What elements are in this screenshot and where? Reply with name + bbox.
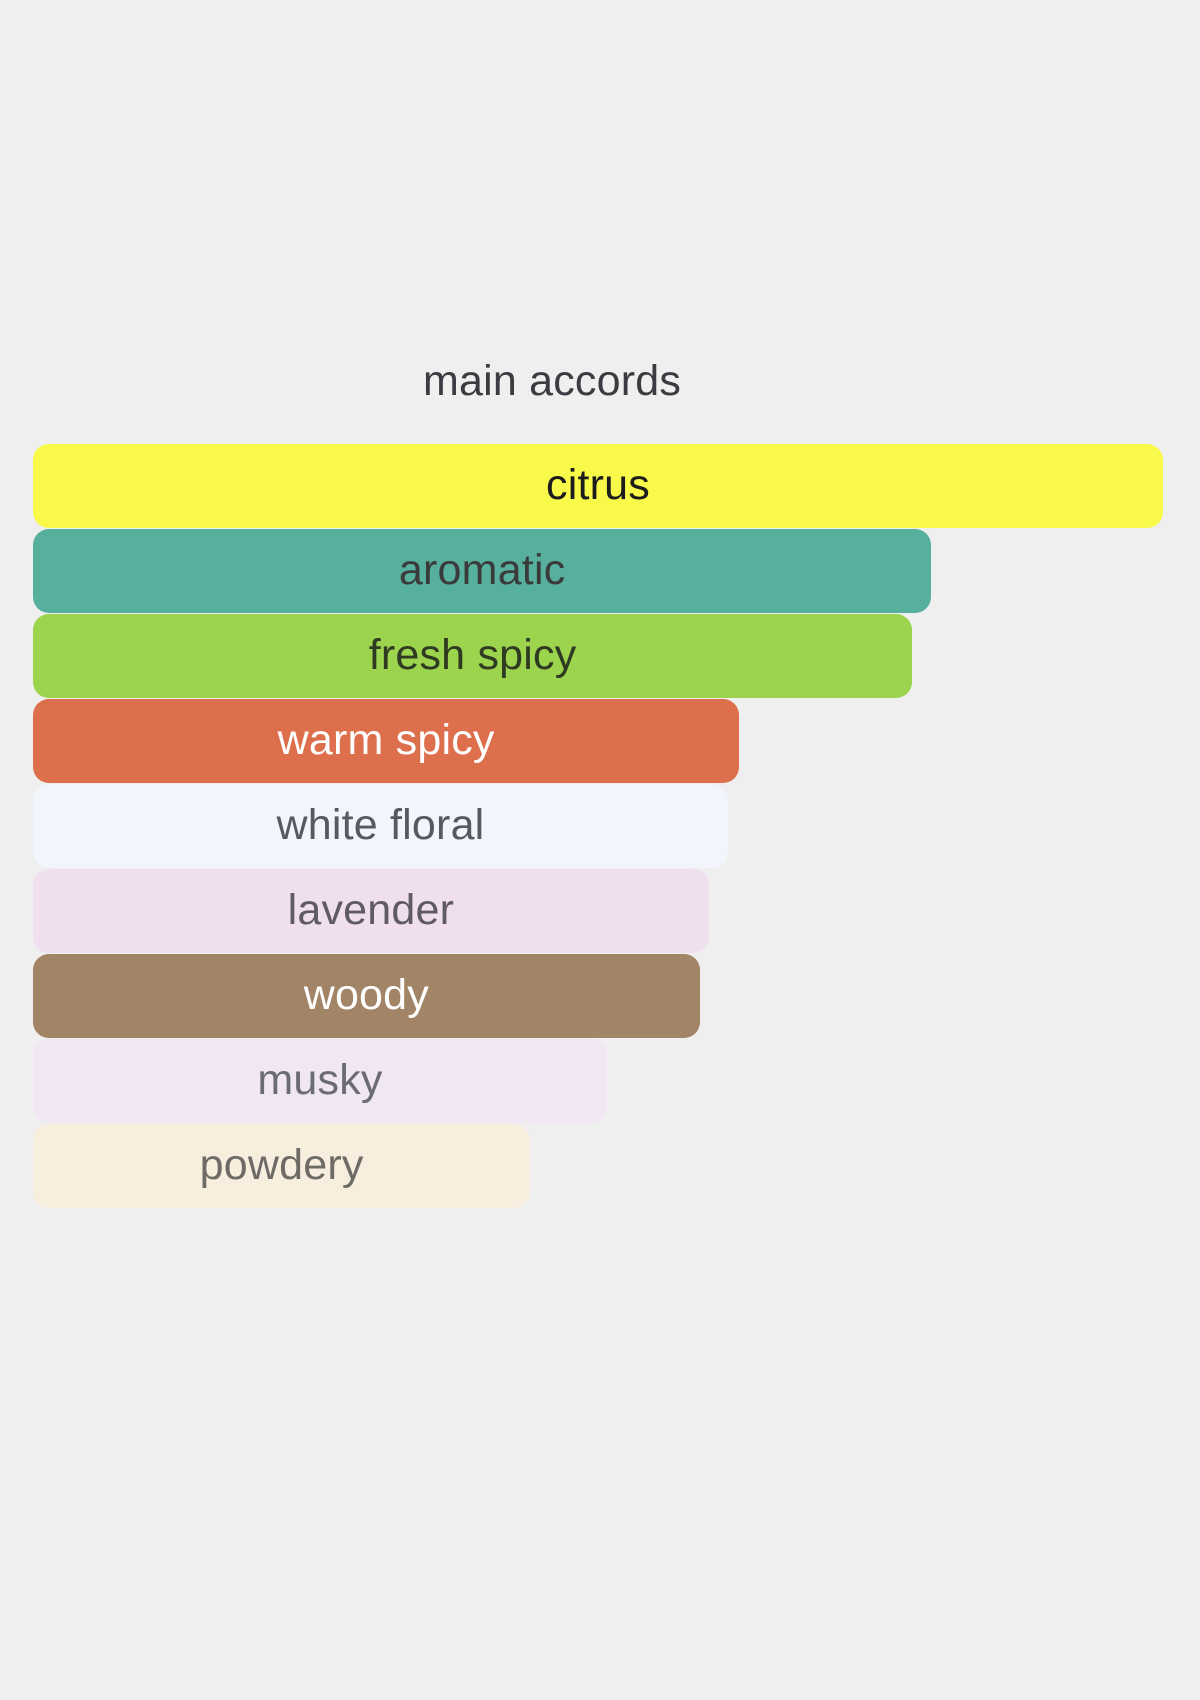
accord-row: woody <box>33 954 1163 1038</box>
accord-row: powdery <box>33 1124 1163 1208</box>
accord-label: powdery <box>200 1142 364 1191</box>
chart-title-text: main accords <box>423 357 681 405</box>
accord-bar[interactable]: lavender <box>33 869 709 953</box>
accord-label: white floral <box>277 802 485 851</box>
accord-bar[interactable]: warm spicy <box>33 699 739 783</box>
accord-bar[interactable]: powdery <box>33 1124 530 1208</box>
accord-bar[interactable]: white floral <box>33 784 728 868</box>
accord-label: fresh spicy <box>369 632 577 681</box>
accord-row: white floral <box>33 784 1163 868</box>
accord-label: lavender <box>288 887 455 936</box>
accord-row: lavender <box>33 869 1163 953</box>
accord-label: warm spicy <box>278 717 495 766</box>
accord-label: aromatic <box>399 547 565 596</box>
chart-title: main accords <box>0 357 1200 405</box>
accord-row: citrus <box>33 444 1163 528</box>
accord-row: musky <box>33 1039 1163 1123</box>
accord-label: musky <box>257 1057 382 1106</box>
accord-row: fresh spicy <box>33 614 1163 698</box>
accord-bar-list: citrusaromaticfresh spicywarm spicywhite… <box>33 444 1163 1209</box>
accord-bar[interactable]: woody <box>33 954 700 1038</box>
main-accords-widget: main accords citrusaromaticfresh spicywa… <box>0 0 1200 1700</box>
accord-row: aromatic <box>33 529 1163 613</box>
accord-label: citrus <box>546 462 650 511</box>
accord-bar[interactable]: citrus <box>33 444 1163 528</box>
accord-bar[interactable]: musky <box>33 1039 607 1123</box>
accord-bar[interactable]: fresh spicy <box>33 614 912 698</box>
accord-label: woody <box>304 972 429 1021</box>
accord-bar[interactable]: aromatic <box>33 529 931 613</box>
accord-row: warm spicy <box>33 699 1163 783</box>
